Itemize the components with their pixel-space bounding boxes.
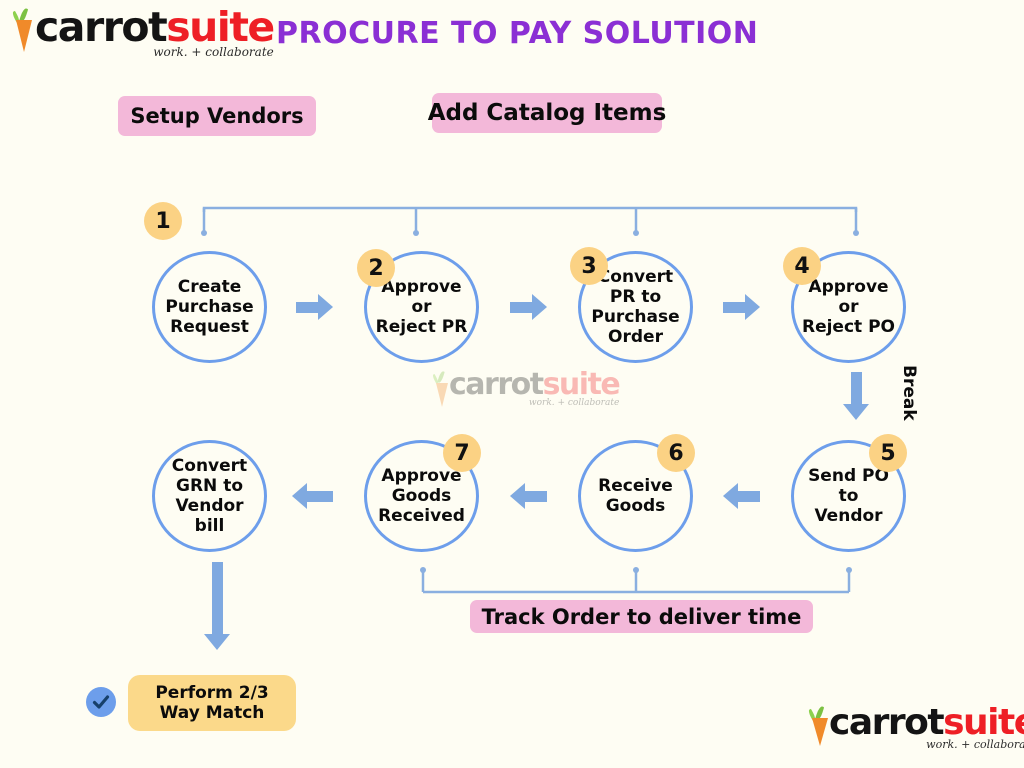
arrow-2-to-3 — [510, 294, 547, 320]
top-bracket — [200, 206, 860, 238]
arrow-to-outcome — [204, 562, 230, 650]
flow-node-6-label: ReceiveGoods — [592, 476, 679, 516]
arrow-4-to-5 — [843, 372, 869, 420]
brand-watermark: carrotsuite work. + collaborate — [432, 371, 619, 408]
arrow-3-to-4 — [723, 294, 760, 320]
flow-node-1[interactable]: CreatePurchaseRequest — [152, 251, 267, 363]
brand-logo-top: carrotsuite work. + collaborate — [12, 8, 274, 59]
brand-word-carrot: carrot — [35, 3, 166, 51]
step-number-badge-7: 7 — [443, 434, 481, 472]
outcome-box[interactable]: Perform 2/3Way Match — [128, 675, 296, 731]
brand-word-suite: suite — [943, 702, 1024, 743]
arrow-6-to-7 — [510, 483, 547, 509]
slide-canvas: carrotsuite work. + collaborate PROCURE … — [0, 0, 1024, 768]
flow-node-8[interactable]: ConvertGRN toVendor bill — [152, 440, 267, 552]
brand-wordmark: carrotsuite — [449, 371, 619, 400]
carrot-icon — [12, 8, 34, 54]
step-number-badge-4: 4 — [783, 247, 821, 285]
carrot-icon — [432, 371, 448, 405]
brand-word-carrot: carrot — [449, 367, 543, 402]
check-icon — [86, 687, 116, 717]
step-number-badge-1: 1 — [144, 202, 182, 240]
badge-setup-vendors[interactable]: Setup Vendors — [118, 96, 316, 136]
arrow-5-to-6 — [723, 483, 760, 509]
brand-wordmark: carrotsuite — [829, 706, 1024, 740]
badge-track-order[interactable]: Track Order to deliver time — [470, 600, 813, 633]
step-number-badge-6: 6 — [657, 434, 695, 472]
bottom-bracket — [412, 566, 862, 596]
brand-word-carrot: carrot — [829, 702, 943, 743]
flow-node-8-label: ConvertGRN toVendor bill — [155, 456, 264, 536]
brand-wordmark: carrotsuite — [35, 8, 274, 47]
brand-word-suite: suite — [543, 367, 620, 402]
step-number-badge-2: 2 — [357, 249, 395, 287]
brand-word-suite: suite — [166, 3, 274, 51]
step-number-badge-3: 3 — [570, 247, 608, 285]
arrow-1-to-2 — [296, 294, 333, 320]
flow-node-4-label: Approve orReject PO — [794, 277, 903, 337]
step-number-badge-5: 5 — [869, 434, 907, 472]
brand-logo-bottom: carrotsuite work. + collaborate — [808, 706, 1024, 751]
carrot-icon — [808, 706, 828, 746]
badge-add-catalog-items[interactable]: Add Catalog Items — [432, 93, 662, 133]
break-label: Break — [899, 365, 919, 421]
page-title: PROCURE TO PAY SOLUTION — [276, 16, 758, 51]
flow-node-2-label: Approve orReject PR — [367, 277, 476, 337]
flow-node-5-label: Send PO toVendor — [794, 466, 903, 526]
flow-node-7-label: ApproveGoodsReceived — [372, 466, 471, 526]
arrow-7-to-8 — [292, 483, 333, 509]
flow-node-1-label: CreatePurchaseRequest — [159, 277, 259, 337]
